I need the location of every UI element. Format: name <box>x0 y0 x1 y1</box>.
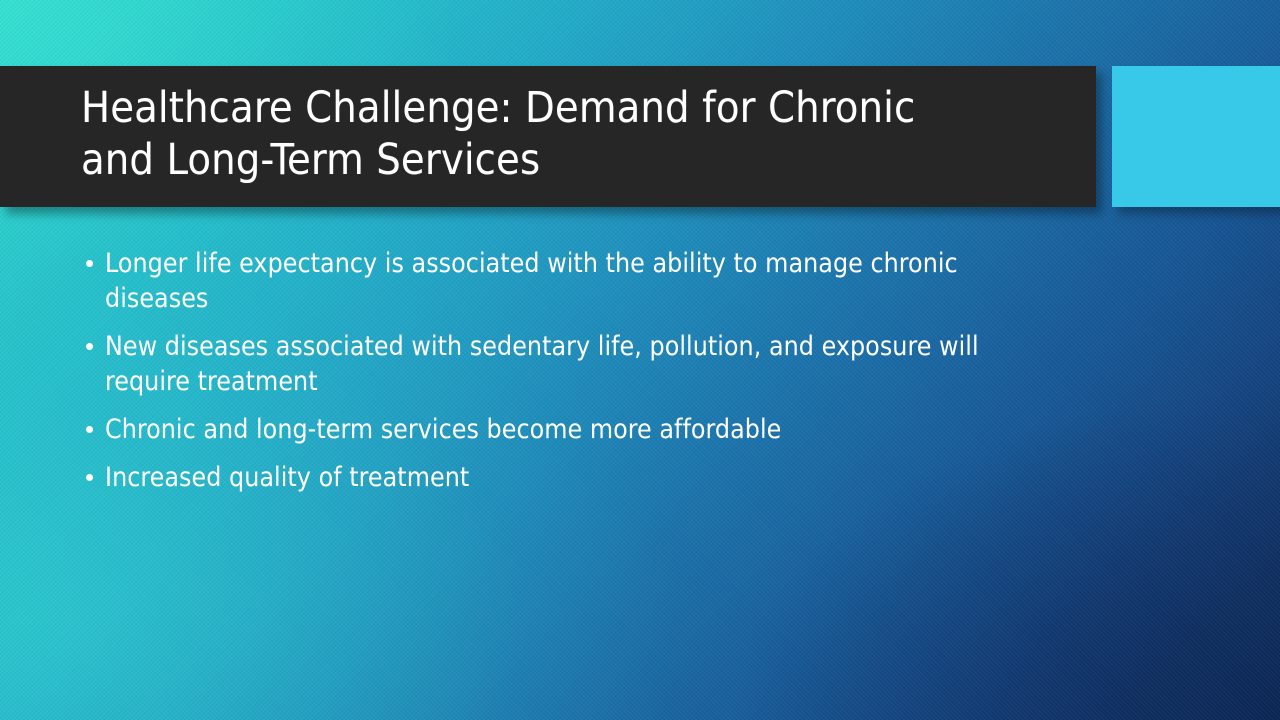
bullet-list: • Longer life expectancy is associated w… <box>80 246 1040 508</box>
list-item: • Increased quality of treatment <box>80 460 1040 495</box>
list-item: • Chronic and long-term services become … <box>80 412 1040 447</box>
list-item-text: Longer life expectancy is associated wit… <box>105 246 1023 316</box>
list-item: • Longer life expectancy is associated w… <box>80 246 1040 316</box>
bullet-dot-icon: • <box>80 460 105 495</box>
bullet-dot-icon: • <box>80 329 105 364</box>
slide: Healthcare Challenge: Demand for Chronic… <box>0 0 1280 720</box>
list-item: • New diseases associated with sedentary… <box>80 329 1040 399</box>
bullet-dot-icon: • <box>80 412 105 447</box>
list-item-text: New diseases associated with sedentary l… <box>105 329 985 399</box>
list-item-text: Chronic and long-term services become mo… <box>105 412 1035 447</box>
slide-title: Healthcare Challenge: Demand for Chronic… <box>0 83 939 190</box>
list-item-text: Increased quality of treatment <box>105 460 1035 495</box>
title-bar: Healthcare Challenge: Demand for Chronic… <box>0 66 1096 207</box>
accent-block <box>1112 66 1280 207</box>
bullet-dot-icon: • <box>80 246 105 281</box>
